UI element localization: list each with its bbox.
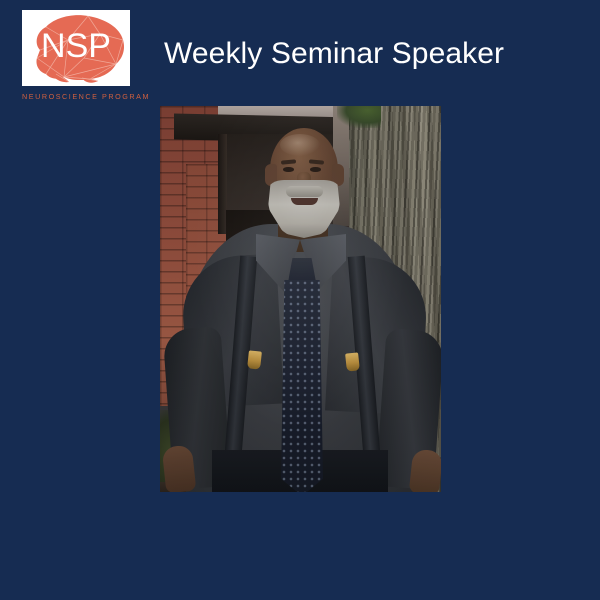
subject-mouth — [291, 198, 318, 205]
subject-necktie — [281, 280, 323, 492]
subject-forehead-highlight — [280, 134, 320, 156]
subject-tie-knot — [288, 258, 316, 282]
photo-subject — [160, 106, 441, 492]
subject-eye-right — [310, 167, 321, 172]
nsp-logo: NSP NEUROSCIENCE PROGRAM — [22, 10, 130, 101]
photo-scene — [160, 106, 441, 492]
logo-monogram: NSP — [41, 27, 111, 65]
logo-card: NSP — [22, 10, 130, 86]
speaker-photo — [160, 106, 441, 492]
subject-suspender-clip-right — [345, 352, 360, 371]
page-title: Weekly Seminar Speaker — [164, 37, 504, 71]
subject-suspender-clip-left — [247, 350, 262, 369]
slide-canvas: NSP NEUROSCIENCE PROGRAM Weekly Seminar … — [0, 0, 600, 600]
logo-wordmark: NEUROSCIENCE PROGRAM — [22, 92, 130, 101]
subject-hand-right — [409, 449, 441, 492]
subject-eye-left — [283, 167, 294, 172]
subject-mustache — [286, 186, 323, 197]
brain-logo-icon: NSP — [22, 10, 130, 86]
